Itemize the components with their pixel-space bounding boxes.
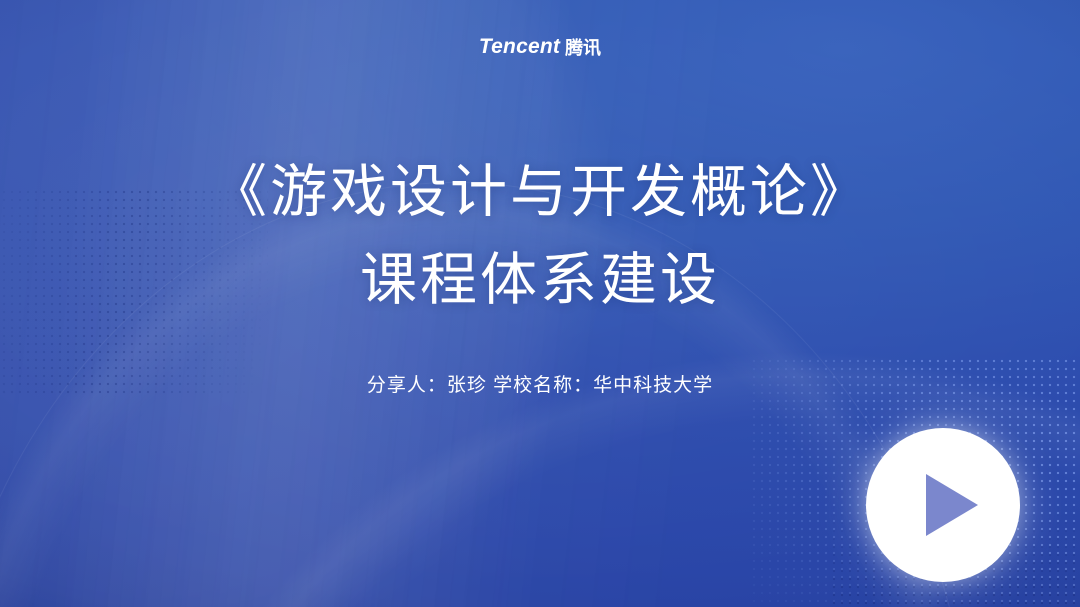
title-line-1: 《游戏设计与开发概论》 xyxy=(0,148,1080,236)
title-line-2: 课程体系建设 xyxy=(0,236,1080,324)
tencent-logo: Tencent腾讯 xyxy=(0,34,1080,60)
play-button[interactable] xyxy=(866,428,1020,582)
play-icon xyxy=(926,474,978,536)
title-slide: Tencent腾讯 《游戏设计与开发概论》 课程体系建设 分享人：张珍 学校名称… xyxy=(0,0,1080,607)
logo-text-cn: 腾讯 xyxy=(565,38,601,58)
page-title: 《游戏设计与开发概论》 课程体系建设 xyxy=(0,148,1080,324)
logo-text-en: Tencent xyxy=(479,35,560,58)
